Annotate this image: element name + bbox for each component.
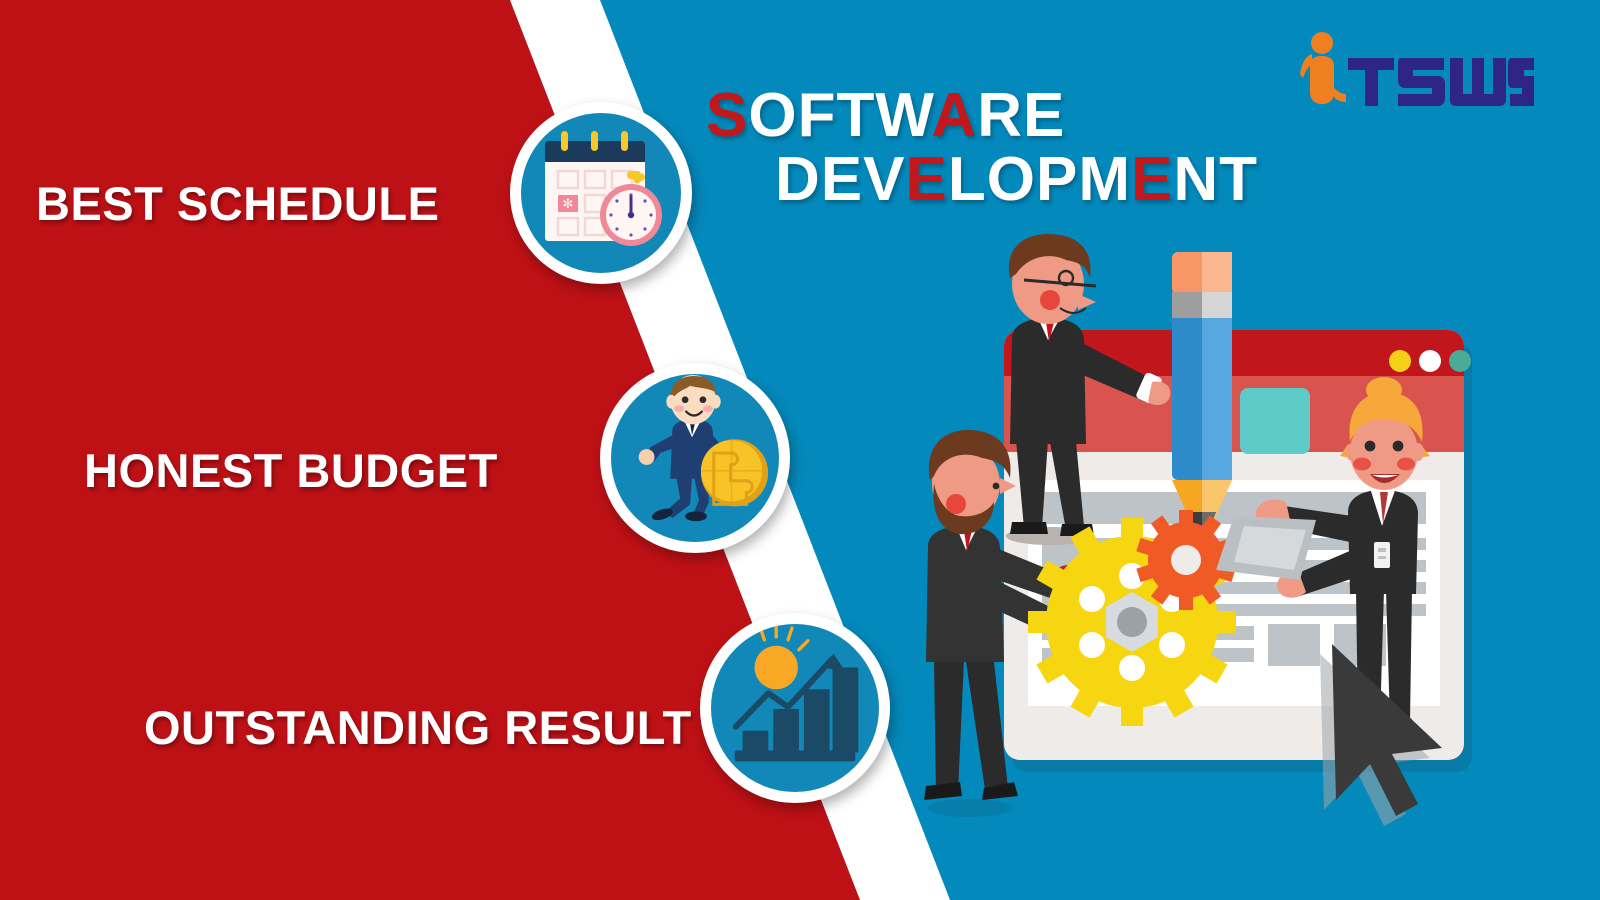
title-line-development: DEVELOPMENT xyxy=(700,148,1260,212)
browser-dot-teal xyxy=(1449,350,1471,372)
title-letter-highlight: S xyxy=(706,81,748,150)
software-development-illustration xyxy=(900,230,1600,850)
banner-root: SOFTWARE DEVELOPMENT BEST SCHEDULE HONES… xyxy=(0,0,1600,900)
title-letter-plain: DEV xyxy=(775,145,905,214)
businessman-coin-puzzle-icon xyxy=(611,374,779,542)
logo-icon xyxy=(1288,28,1534,116)
growth-bar-chart-sun-icon xyxy=(711,624,879,792)
title-letter-highlight: A xyxy=(931,81,977,150)
title-letter-highlight: E xyxy=(906,145,948,214)
badge-best-schedule[interactable]: ✻ xyxy=(510,102,692,284)
svg-text:✻: ✻ xyxy=(563,196,574,211)
accent-square xyxy=(1240,388,1310,454)
title-letter-plain: RE xyxy=(977,81,1065,150)
title-letter-highlight: E xyxy=(1131,145,1173,214)
browser-dot-white xyxy=(1419,350,1441,372)
title-letter-plain: LOPM xyxy=(948,145,1131,214)
title-letter-plain: OFTW xyxy=(748,81,931,150)
title-letter-plain: NT xyxy=(1173,145,1258,214)
itsws-logo[interactable] xyxy=(1288,28,1534,116)
feature-label-honest-budget: HONEST BUDGET xyxy=(84,443,498,498)
badge-outstanding-result[interactable] xyxy=(700,613,890,803)
browser-dot-yellow xyxy=(1389,350,1411,372)
title-line-software: SOFTWARE xyxy=(700,84,1260,148)
feature-label-best-schedule: BEST SCHEDULE xyxy=(36,176,439,231)
badge-honest-budget[interactable] xyxy=(600,363,790,553)
feature-label-outstanding-result: OUTSTANDING RESULT xyxy=(144,700,692,755)
page-title: SOFTWARE DEVELOPMENT xyxy=(700,84,1260,213)
calendar-stopwatch-icon: ✻ xyxy=(521,113,681,273)
